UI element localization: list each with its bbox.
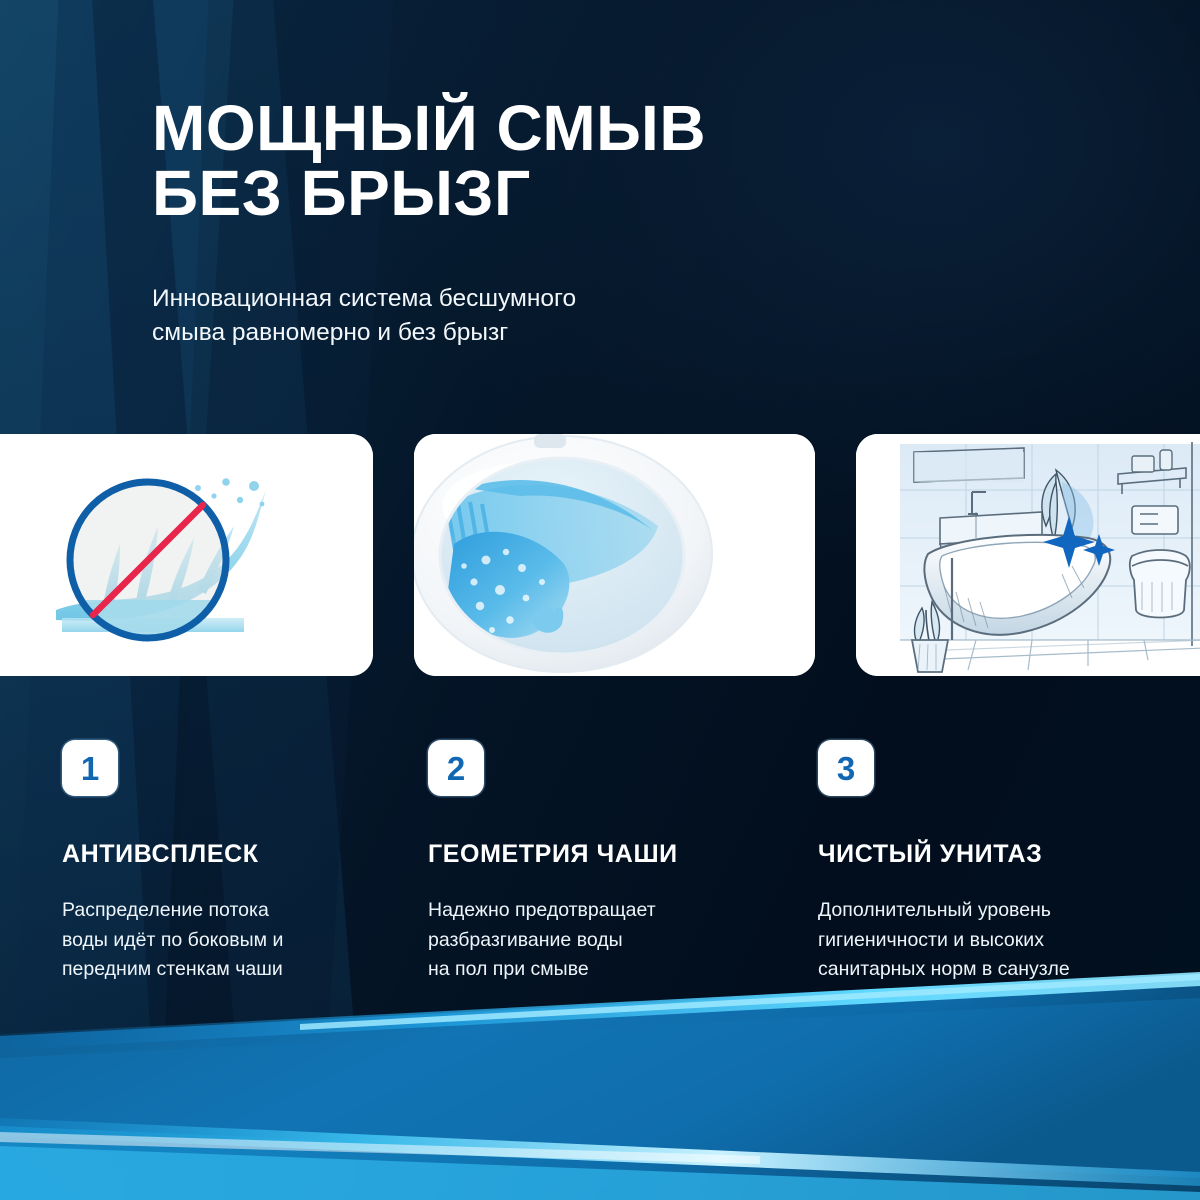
bathroom-sketch-icon bbox=[856, 434, 1200, 676]
toilet-bowl-icon bbox=[414, 434, 815, 676]
feature-title-3: ЧИСТЫЙ УНИТАЗ bbox=[818, 840, 1200, 869]
page-subtitle: Инновационная система бесшумного смыва р… bbox=[152, 282, 912, 352]
feature-list: 1 АНТИВСПЛЕСК Распределение потока воды … bbox=[0, 740, 1200, 985]
feature-item-1: 1 АНТИВСПЛЕСК Распределение потока воды … bbox=[0, 740, 400, 985]
feature-item-3: 3 ЧИСТЫЙ УНИТАЗ Дополнительный уровень г… bbox=[800, 740, 1200, 985]
feature-item-2: 2 ГЕОМЕТРИЯ ЧАШИ Надежно предотвращает р… bbox=[400, 740, 800, 985]
image-card-row bbox=[0, 434, 1200, 676]
card-bathroom-sketch bbox=[856, 434, 1200, 676]
toilet-bowl-photo bbox=[414, 434, 815, 676]
feature-body-3: Дополнительный уровень гигиеничности и в… bbox=[818, 896, 1200, 985]
no-splash-illustration bbox=[0, 434, 373, 676]
splash-icon bbox=[48, 460, 298, 650]
feature-badge-1: 1 bbox=[62, 740, 118, 796]
bathroom-sketch-illustration bbox=[856, 434, 1200, 676]
feature-title-2: ГЕОМЕТРИЯ ЧАШИ bbox=[428, 840, 800, 869]
card-no-splash bbox=[0, 434, 373, 676]
feature-body-1: Распределение потока воды идёт по боковы… bbox=[62, 896, 400, 985]
feature-badge-2: 2 bbox=[428, 740, 484, 796]
feature-title-1: АНТИВСПЛЕСК bbox=[62, 840, 400, 869]
card-toilet-bowl bbox=[414, 434, 815, 676]
promo-poster: МОЩНЫЙ СМЫВ БЕЗ БРЫЗГ Инновационная сист… bbox=[0, 0, 1200, 1200]
hero-section: МОЩНЫЙ СМЫВ БЕЗ БРЫЗГ Инновационная сист… bbox=[152, 96, 912, 351]
feature-badge-3: 3 bbox=[818, 740, 874, 796]
page-title: МОЩНЫЙ СМЫВ БЕЗ БРЫЗГ bbox=[152, 96, 912, 227]
feature-body-2: Надежно предотвращает разбразгивание вод… bbox=[428, 896, 800, 985]
